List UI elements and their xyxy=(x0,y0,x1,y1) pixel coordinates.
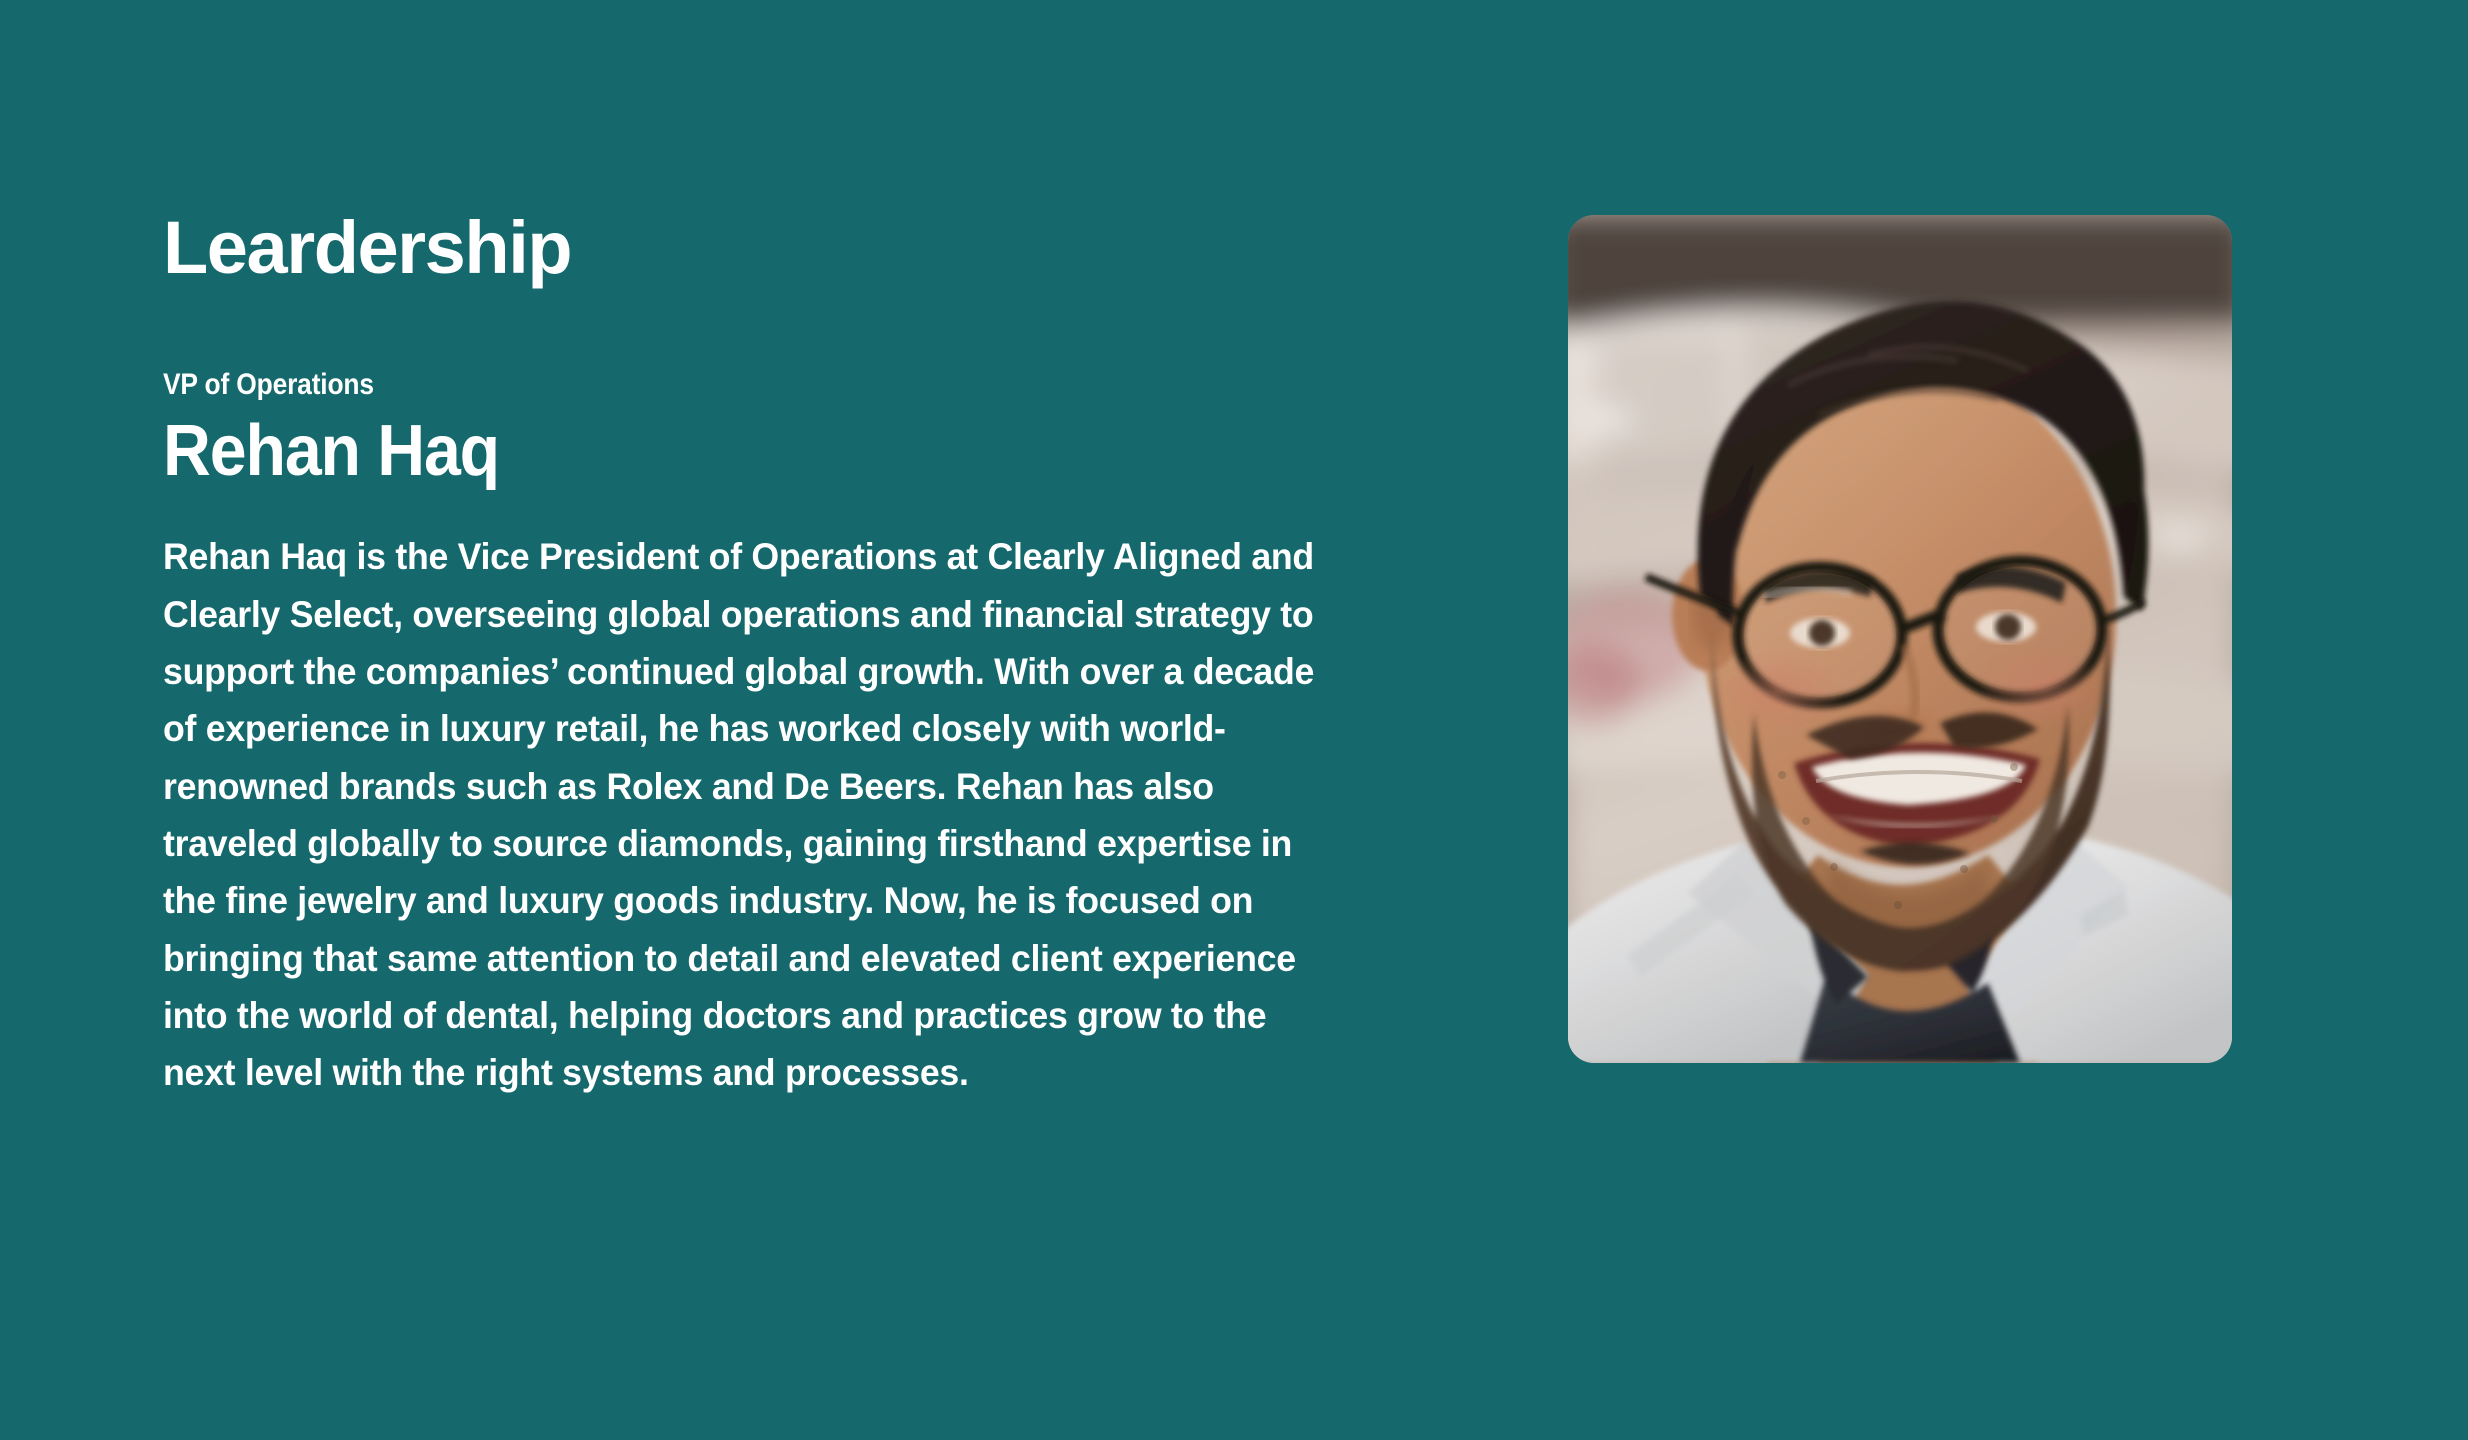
page-title: Leardership xyxy=(163,212,1383,284)
leadership-slide: Leardership VP of Operations Rehan Haq R… xyxy=(0,0,2468,1440)
text-column: Leardership VP of Operations Rehan Haq R… xyxy=(163,212,1383,1102)
person-name: Rehan Haq xyxy=(163,415,1285,488)
person-bio: Rehan Haq is the Vice President of Opera… xyxy=(163,528,1331,1101)
portrait-photo xyxy=(1568,215,2232,1063)
portrait-photo-frame xyxy=(1568,215,2232,1063)
role-title: VP of Operations xyxy=(163,368,1237,401)
